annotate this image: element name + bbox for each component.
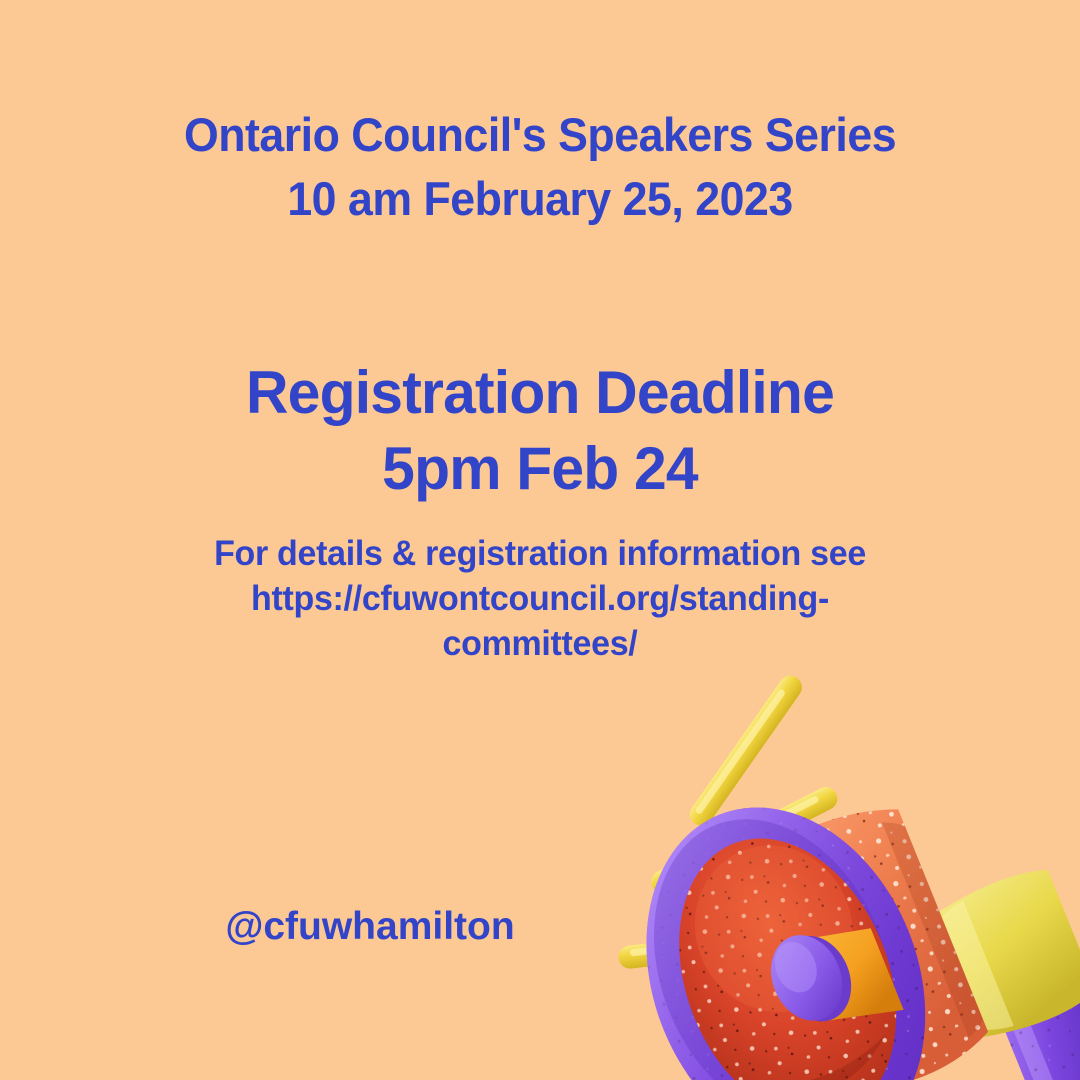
- details-and-registration-url[interactable]: For details & registration information s…: [16, 531, 1064, 666]
- poster-text-layer: Ontario Council's Speakers Series 10 am …: [0, 0, 1080, 1080]
- event-title: Ontario Council's Speakers Series 10 am …: [27, 103, 1053, 231]
- registration-deadline-headline: Registration Deadline 5pm Feb 24: [11, 355, 1069, 507]
- social-handle[interactable]: @cfuwhamilton: [0, 902, 740, 952]
- poster-canvas: Ontario Council's Speakers Series 10 am …: [0, 0, 1080, 1080]
